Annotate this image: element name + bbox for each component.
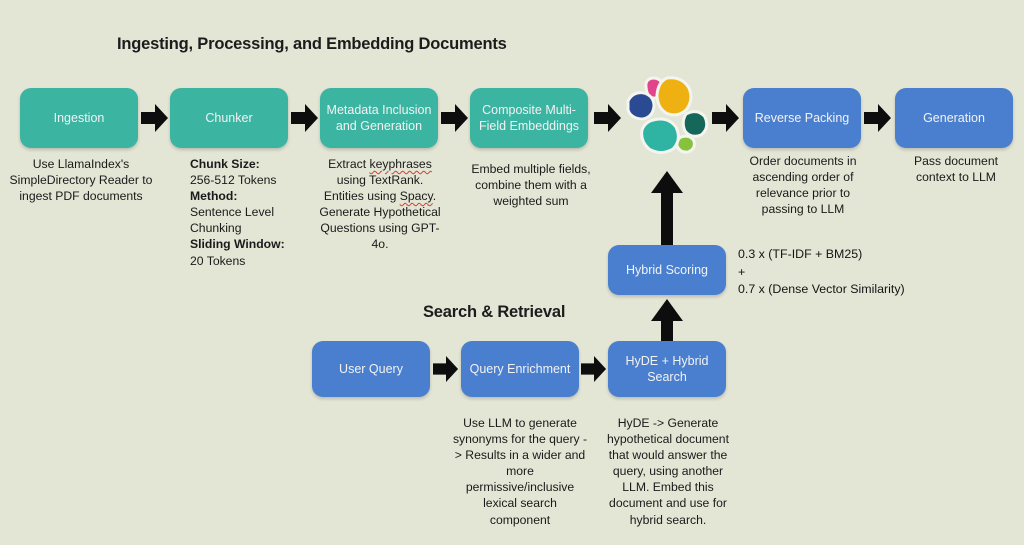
node-hybrid-scoring-label: Hybrid Scoring <box>626 262 708 278</box>
node-composite-multi-field-embeddings[interactable]: Composite Multi-Field Embeddings <box>470 88 588 148</box>
bottom-section-heading: Search & Retrieval <box>423 303 565 322</box>
node-user-query-label: User Query <box>339 361 403 377</box>
node-reverse-packing[interactable]: Reverse Packing <box>743 88 861 148</box>
node-hyde-hybrid-search[interactable]: HyDE + Hybrid Search <box>608 341 726 397</box>
node-metadata-inclusion-and-generation[interactable]: Metadata Inclusion and Generation <box>320 88 438 148</box>
caption-chunker-label-2: Method: <box>190 189 237 203</box>
node-hybrid-scoring[interactable]: Hybrid Scoring <box>608 245 726 295</box>
node-query-enrichment[interactable]: Query Enrichment <box>461 341 579 397</box>
caption-metadata-part-1: Extract <box>328 157 369 171</box>
node-composite-label: Composite Multi-Field Embeddings <box>476 102 582 134</box>
caption-generation: Pass document context to LLM <box>900 153 1012 185</box>
node-generation-label: Generation <box>923 110 985 126</box>
diagram-canvas: Ingesting, Processing, and Embedding Doc… <box>0 0 1024 545</box>
node-reverse-packing-label: Reverse Packing <box>755 110 850 126</box>
arrow-metadata-to-composite <box>441 103 469 133</box>
arrow-user-query-to-query-enrichment <box>433 354 459 384</box>
caption-chunker: Chunk Size: 256-512 Tokens Method: Sente… <box>190 156 316 269</box>
caption-chunker-value-2: Sentence Level Chunking <box>190 205 274 235</box>
arrow-composite-to-datastore <box>594 103 622 133</box>
caption-metadata-keyword-spacy: Spacy <box>400 189 433 203</box>
formula-line-1: 0.3 x (TF-IDF + BM25) <box>738 246 905 264</box>
elasticsearch-logo <box>620 74 712 161</box>
node-hyde-hybrid-search-label: HyDE + Hybrid Search <box>614 353 720 385</box>
node-metadata-label: Metadata Inclusion and Generation <box>326 102 432 134</box>
caption-chunker-label-3: Sliding Window: <box>190 237 285 251</box>
caption-query-enrichment: Use LLM to generate synonyms for the que… <box>452 415 588 528</box>
caption-chunker-label-1: Chunk Size: <box>190 157 260 171</box>
node-chunker-label: Chunker <box>205 110 252 126</box>
arrow-hybrid-scoring-to-datastore <box>650 170 684 246</box>
caption-reverse-packing: Order documents in ascending order of re… <box>734 153 872 217</box>
hybrid-scoring-formula: 0.3 x (TF-IDF + BM25) + 0.7 x (Dense Vec… <box>738 246 905 299</box>
arrow-query-enrichment-to-hyde <box>581 354 607 384</box>
arrow-datastore-to-reverse-packing <box>712 103 740 133</box>
arrow-chunker-to-metadata <box>291 103 319 133</box>
caption-composite: Embed multiple fields, combine them with… <box>458 161 604 209</box>
formula-line-2: + <box>738 264 905 282</box>
caption-hyde: HyDE -> Generate hypothetical document t… <box>601 415 735 528</box>
caption-chunker-value-3: 20 Tokens <box>190 254 245 268</box>
caption-metadata-keyword-keyphrases: keyphrases <box>369 157 431 171</box>
node-ingestion[interactable]: Ingestion <box>20 88 138 148</box>
node-generation[interactable]: Generation <box>895 88 1013 148</box>
top-section-heading: Ingesting, Processing, and Embedding Doc… <box>117 35 507 54</box>
caption-metadata: Extract keyphrases using TextRank. Entit… <box>316 156 444 253</box>
node-ingestion-label: Ingestion <box>54 110 105 126</box>
arrow-ingestion-to-chunker <box>141 103 169 133</box>
node-query-enrichment-label: Query Enrichment <box>470 361 571 377</box>
node-user-query[interactable]: User Query <box>312 341 430 397</box>
node-chunker[interactable]: Chunker <box>170 88 288 148</box>
caption-chunker-value-1: 256-512 Tokens <box>190 173 277 187</box>
caption-ingestion: Use LlamaIndex's SimpleDirectory Reader … <box>8 156 154 204</box>
formula-line-3: 0.7 x (Dense Vector Similarity) <box>738 281 905 299</box>
arrow-hyde-to-hybrid-scoring <box>650 298 684 346</box>
arrow-reverse-packing-to-generation <box>864 103 892 133</box>
